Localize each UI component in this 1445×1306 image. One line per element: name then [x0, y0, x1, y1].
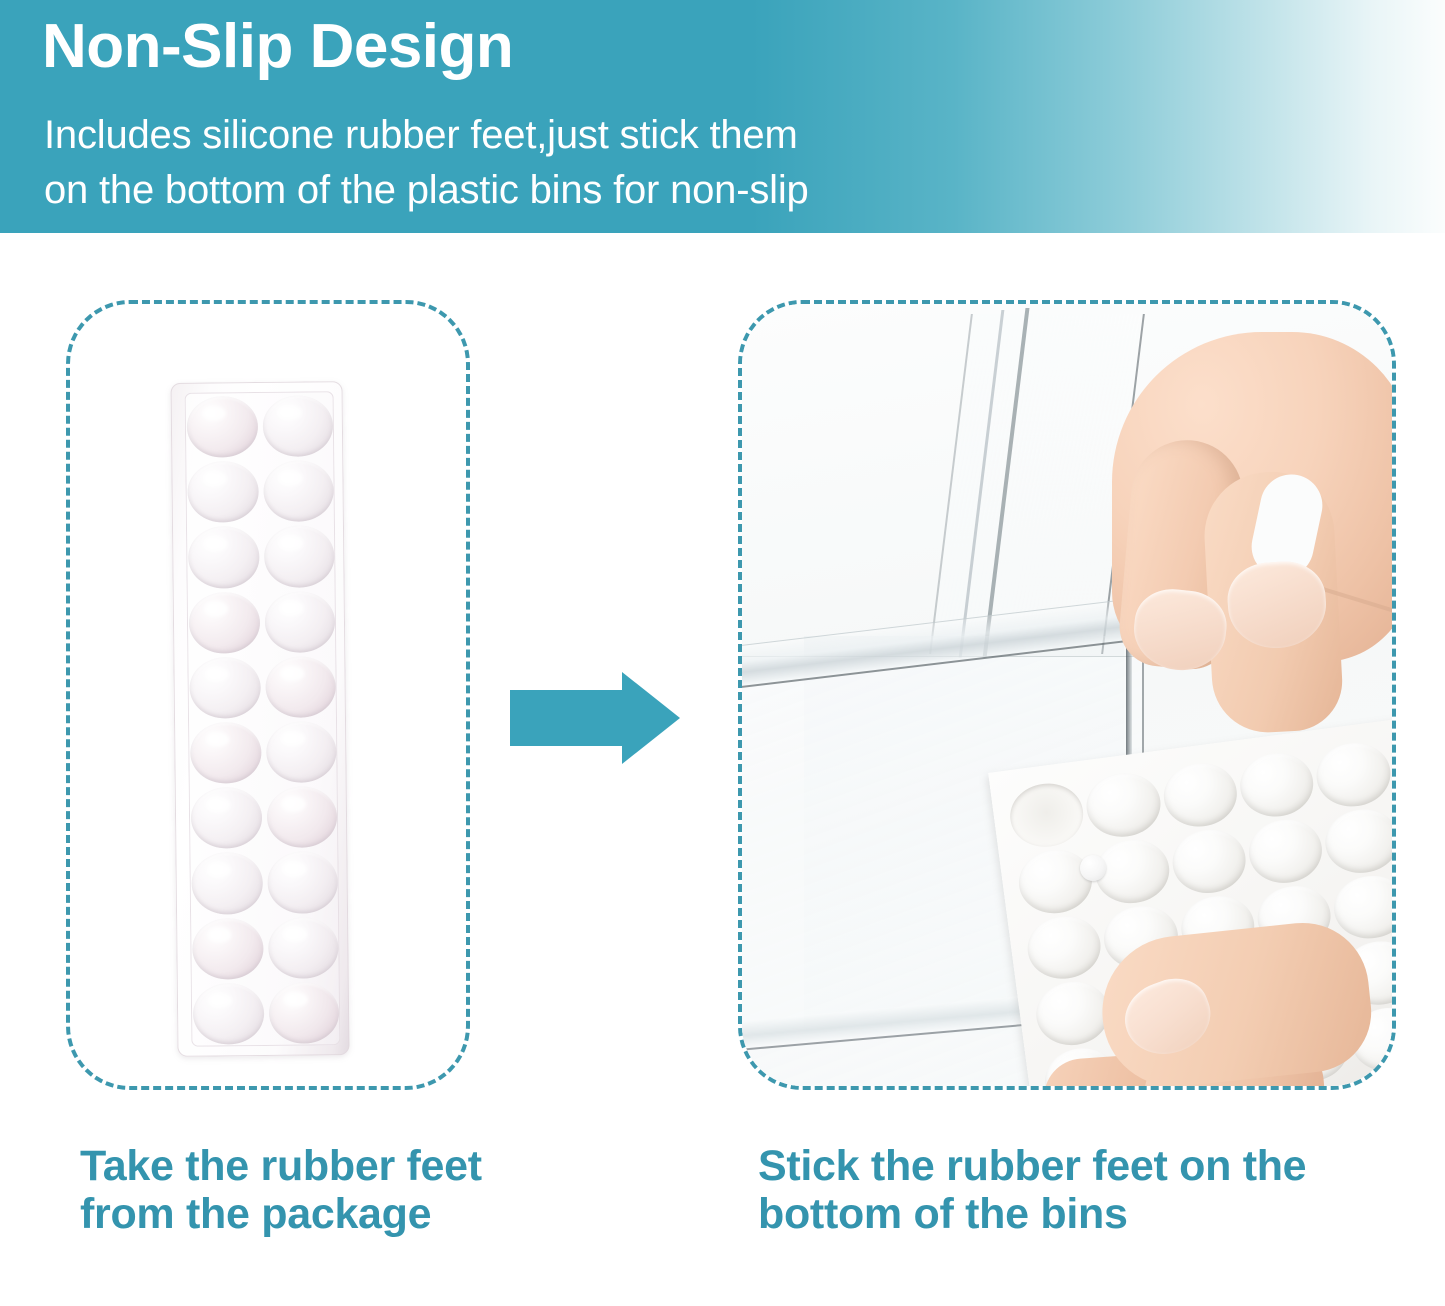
header-subtitle-line-1: Includes silicone rubber feet,just stick… [44, 113, 798, 158]
header-banner: Non-Slip Design Includes silicone rubber… [0, 0, 1445, 233]
white-rubber-foot [1313, 739, 1394, 811]
page-title: Non-Slip Design [42, 14, 513, 81]
arrow-right-icon [510, 672, 680, 764]
header-subtitle-line-2: on the bottom of the plastic bins for no… [44, 168, 809, 213]
clear-rubber-foot [267, 852, 338, 914]
white-rubber-foot [1245, 815, 1326, 887]
white-rubber-foot [1236, 749, 1317, 821]
clear-rubber-feet-grid [187, 395, 340, 1044]
clear-rubber-foot [187, 396, 258, 458]
step-2-photo-panel [738, 300, 1396, 1090]
clear-rubber-foot [191, 787, 262, 849]
clear-rubber-foot [187, 461, 258, 523]
clear-rubber-foot [262, 395, 333, 457]
hand-holding-sheet [1072, 894, 1396, 1090]
clear-rubber-foot [263, 460, 334, 522]
clear-rubber-foot [193, 983, 264, 1045]
rubber-foot-on-bin-rim [1080, 855, 1106, 881]
blister-pack [170, 381, 349, 1057]
thumb [1095, 916, 1377, 1090]
white-rubber-foot [1390, 729, 1396, 801]
step-1-photo-panel [66, 300, 470, 1090]
clear-rubber-foot [189, 657, 260, 719]
clear-rubber-foot [188, 526, 259, 588]
clear-rubber-foot [263, 526, 334, 588]
clear-rubber-foot [266, 786, 337, 848]
clear-rubber-foot [266, 721, 337, 783]
step-2-caption: Stick the rubber feet on the bottom of t… [758, 1142, 1388, 1238]
clear-rubber-foot [190, 722, 261, 784]
bin-photo-scene [742, 304, 1392, 1086]
clear-rubber-foot [191, 852, 262, 914]
hand-holding-bin [1038, 322, 1396, 722]
clear-rubber-foot [268, 917, 339, 979]
white-rubber-foot [1083, 769, 1164, 841]
clear-rubber-foot [268, 982, 339, 1044]
clear-rubber-foot [265, 656, 336, 718]
white-rubber-foot [1006, 779, 1087, 851]
clear-rubber-foot [264, 591, 335, 653]
white-rubber-foot [1322, 805, 1396, 877]
thumbnail [1115, 969, 1220, 1066]
clear-rubber-foot [189, 592, 260, 654]
clear-rubber-foot [192, 918, 263, 980]
step-1-caption: Take the rubber feet from the package [80, 1142, 520, 1238]
white-rubber-foot [1168, 825, 1249, 897]
step-flow-arrow [510, 672, 680, 764]
white-rubber-foot [1160, 759, 1241, 831]
